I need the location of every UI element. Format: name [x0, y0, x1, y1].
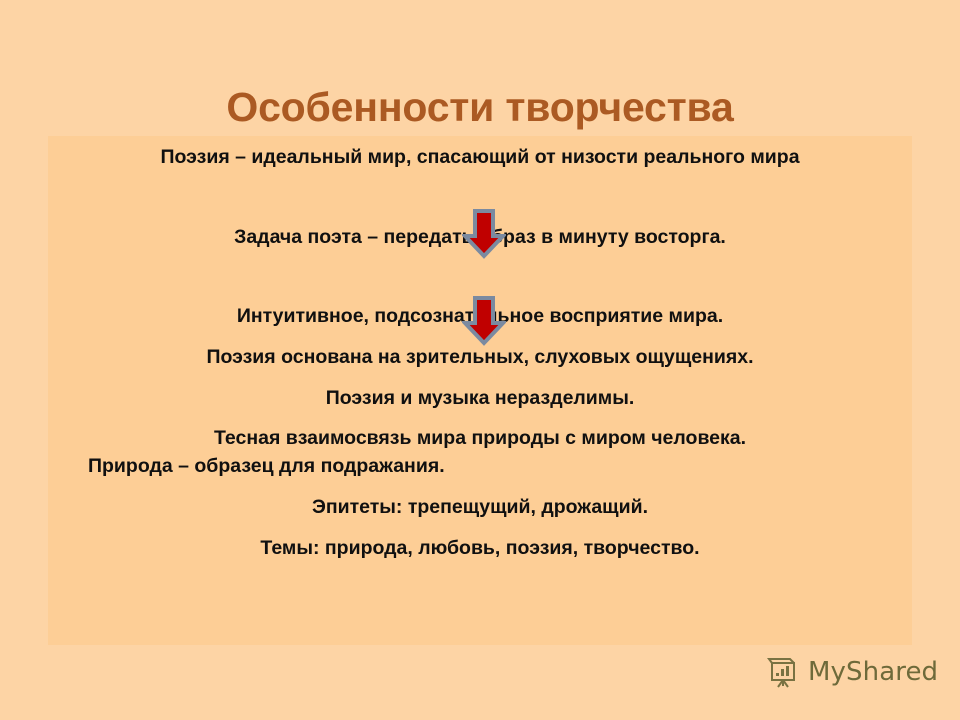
text-line-epithets: Эпитеты: трепещущий, дрожащий. [72, 494, 888, 522]
watermark-label: MyShared [808, 659, 938, 685]
myshared-watermark: MyShared [766, 655, 938, 689]
text-line-music: Поэзия и музыка неразделимы. [72, 385, 888, 413]
page-title: Особенности творчества [0, 85, 960, 130]
text-line-nature-2: Природа – образец для подражания. [72, 453, 888, 481]
down-arrow-1-icon [462, 209, 506, 259]
text-line-basis: Поэзия основана на зрительных, слуховых … [72, 344, 888, 372]
text-line-lead: Поэзия – идеальный мир, спасающий от низ… [72, 144, 888, 172]
slide-canvas: Особенности творчества Поэзия – идеальны… [0, 0, 960, 720]
text-line-themes: Темы: природа, любовь, поэзия, творчеств… [72, 535, 888, 563]
flipchart-chart-icon [766, 655, 800, 689]
down-arrow-2-icon [462, 296, 506, 346]
text-line-nature-1: Тесная взаимосвязь мира природы с миром … [72, 425, 888, 453]
